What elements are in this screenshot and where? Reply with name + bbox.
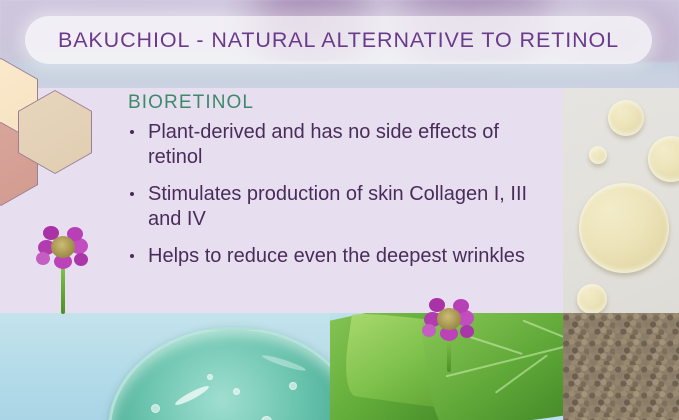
flower-petal	[422, 324, 436, 337]
hexagon-cluster	[0, 58, 112, 218]
section-kicker: BIORETINOL	[128, 92, 548, 114]
gel-bubble	[233, 388, 240, 395]
flower-petal	[74, 253, 88, 266]
bullet-dot-icon	[130, 130, 134, 134]
list-item: Stimulates production of skin Collagen I…	[128, 182, 548, 232]
petri-dish	[108, 327, 360, 420]
infographic-canvas: BAKUCHIOL - NATURAL ALTERNATIVE TO RETIN…	[0, 0, 679, 420]
flower-stem	[447, 338, 451, 372]
oil-drop	[577, 284, 607, 314]
flower-petal	[36, 252, 50, 265]
flower-center	[51, 236, 75, 258]
oil-droplets-photo	[563, 88, 679, 314]
babchi-seeds-photo	[563, 313, 679, 420]
list-item-label: Stimulates production of skin Collagen I…	[148, 183, 527, 230]
oil-drop	[608, 100, 644, 136]
benefits-list: Plant-derived and has no side effects of…	[128, 120, 548, 269]
text-content: BIORETINOL Plant-derived and has no side…	[128, 92, 548, 281]
gel-bubble	[151, 404, 160, 413]
oil-drop	[589, 146, 607, 164]
gel-highlight	[261, 353, 307, 373]
list-item-label: Helps to reduce even the deepest wrinkle…	[148, 245, 525, 267]
bottom-photo-strip	[0, 313, 679, 420]
oil-drop	[579, 183, 669, 273]
flower-center	[437, 308, 461, 330]
purple-flower-left	[34, 224, 92, 274]
oil-drop	[648, 136, 679, 182]
list-item: Helps to reduce even the deepest wrinkle…	[128, 244, 548, 269]
gel-highlight	[174, 383, 211, 407]
list-item-label: Plant-derived and has no side effects of…	[148, 121, 499, 168]
gel-bubble	[261, 416, 272, 420]
list-item: Plant-derived and has no side effects of…	[128, 120, 548, 170]
flower-petal	[460, 325, 474, 338]
page-title: BAKUCHIOL - NATURAL ALTERNATIVE TO RETIN…	[58, 28, 619, 53]
gel-petri-dish-photo	[0, 313, 372, 420]
gel-bubble	[207, 374, 213, 380]
purple-flower-middle	[420, 296, 478, 346]
title-banner: BAKUCHIOL - NATURAL ALTERNATIVE TO RETIN…	[25, 16, 652, 64]
gel-bubble	[289, 382, 297, 390]
bullet-dot-icon	[130, 192, 134, 196]
flower-stem	[61, 268, 65, 314]
bullet-dot-icon	[130, 254, 134, 258]
